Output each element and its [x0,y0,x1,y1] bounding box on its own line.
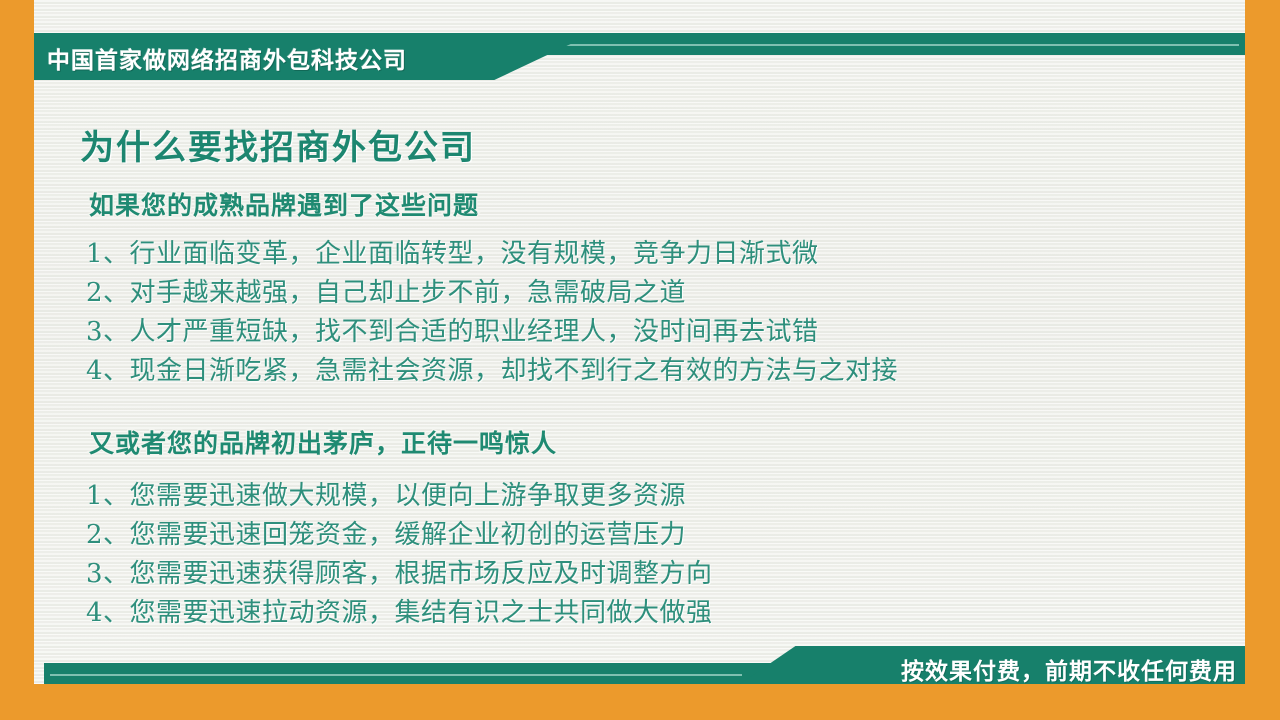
footer-tagline: 按效果付费，前期不收任何费用 [901,652,1237,686]
page-title: 为什么要找招商外包公司 [80,120,476,169]
list-item: 3、您需要迅速获得顾客，根据市场反应及时调整方向 [86,555,713,594]
bullet-list-newbrand: 1、您需要迅速做大规模，以便向上游争取更多资源 2、您需要迅速回笼资金，缓解企业… [86,477,713,633]
list-item: 3、人才严重短缺，找不到合适的职业经理人，没时间再去试错 [86,313,898,352]
slide-root: 中国首家做网络招商外包科技公司 为什么要找招商外包公司 如果您的成熟品牌遇到了这… [0,0,1280,720]
list-item: 4、您需要迅速拉动资源，集结有识之士共同做大做强 [86,594,713,633]
list-item: 4、现金日渐吃紧，急需社会资源，却找不到行之有效的方法与之对接 [86,352,898,391]
list-item: 1、行业面临变革，企业面临转型，没有规模，竞争力日渐式微 [86,235,898,274]
section-heading-newbrand: 又或者您的品牌初出茅庐，正待一鸣惊人 [89,424,557,460]
section-heading-problems: 如果您的成熟品牌遇到了这些问题 [89,186,479,222]
header-hairline-rule [544,44,1239,46]
bullet-list-problems: 1、行业面临变革，企业面临转型，没有规模，竞争力日渐式微 2、对手越来越强，自己… [86,235,898,391]
footer-hairline-rule [50,674,742,676]
list-item: 1、您需要迅速做大规模，以便向上游争取更多资源 [86,477,713,516]
list-item: 2、您需要迅速回笼资金，缓解企业初创的运营压力 [86,516,713,555]
header-tagline: 中国首家做网络招商外包科技公司 [47,41,407,75]
list-item: 2、对手越来越强，自己却止步不前，急需破局之道 [86,274,898,313]
